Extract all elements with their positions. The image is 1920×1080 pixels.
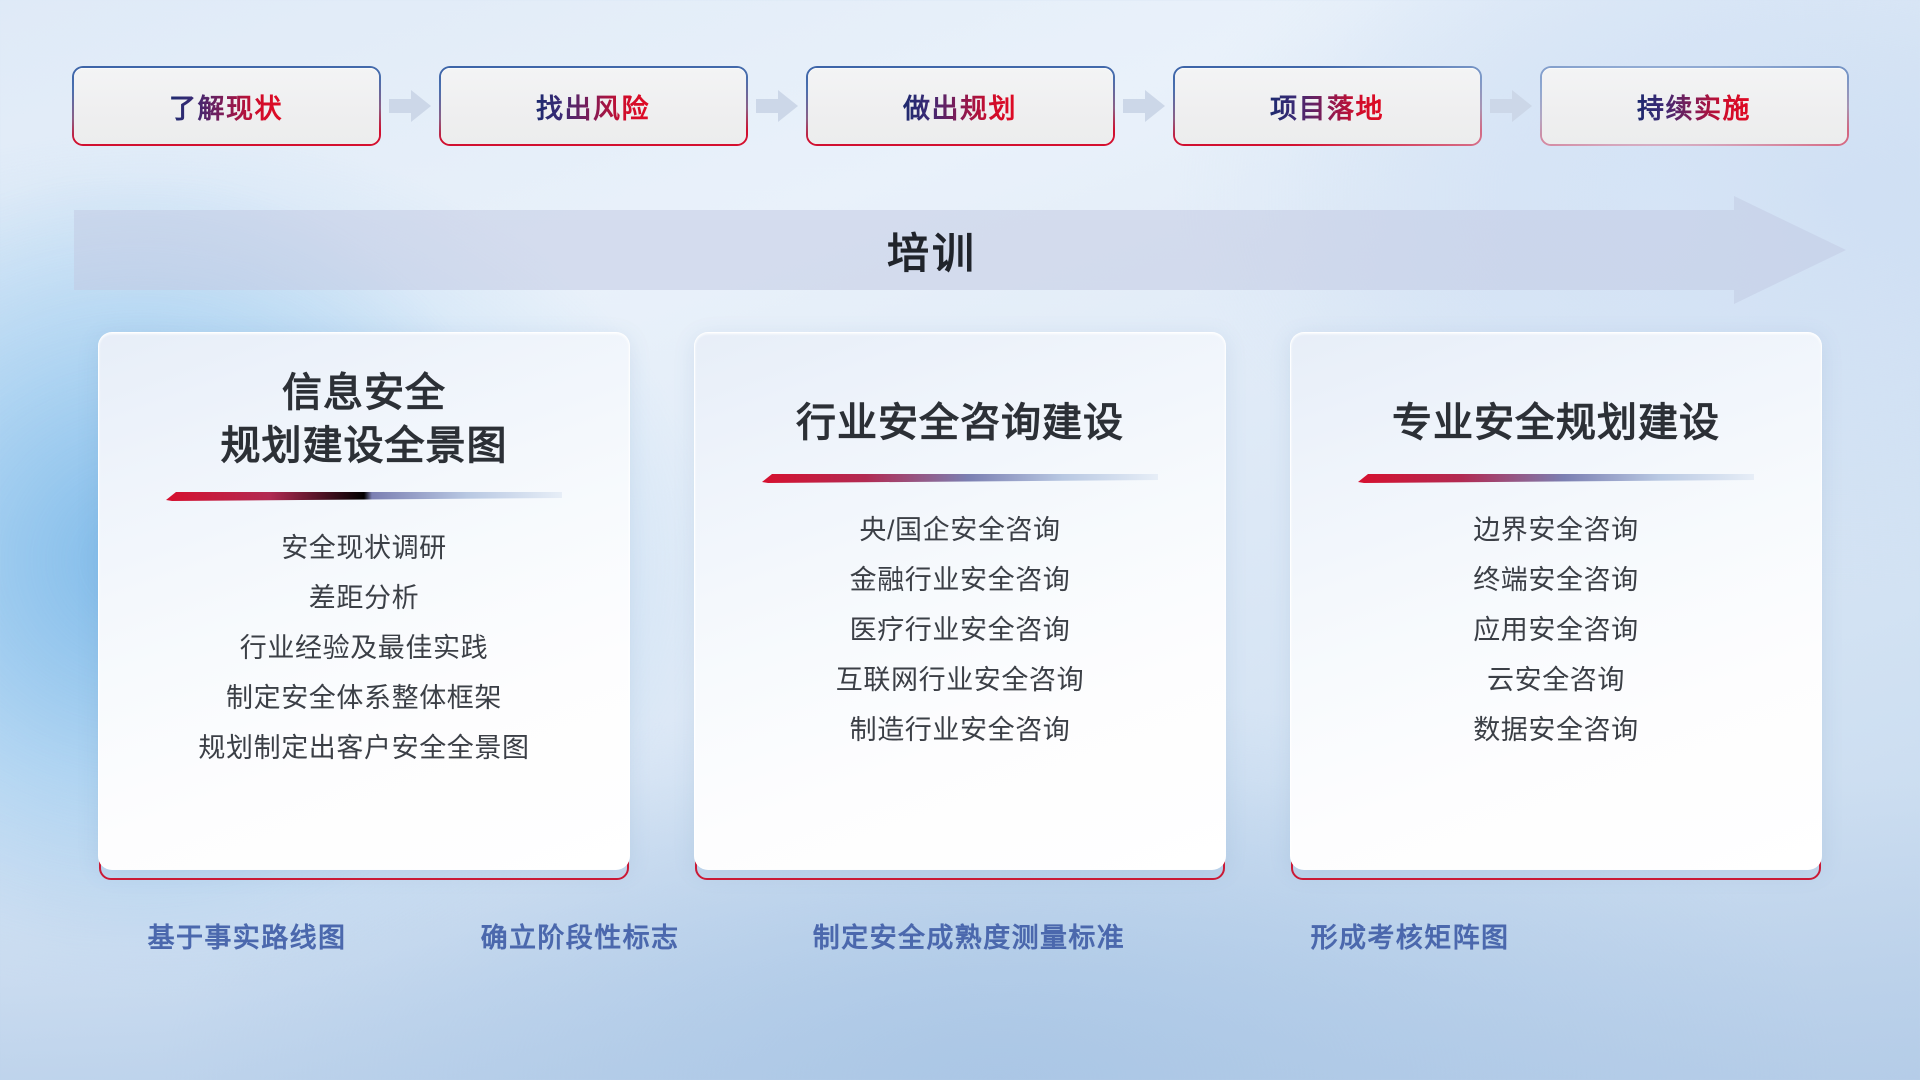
list-item: 央/国企安全咨询	[859, 509, 1060, 551]
caption-row: 基于事实路线图 确立阶段性标志 制定安全成熟度测量标准 形成考核矩阵图	[0, 916, 1920, 962]
card-divider	[166, 491, 562, 501]
card-row: 信息安全 规划建设全景图	[0, 332, 1920, 880]
card-2: 行业安全咨询建设 央/国企安全咨询	[694, 332, 1226, 880]
caption-3: 制定安全成熟度测量标准	[813, 916, 1125, 955]
list-item: 差距分析	[309, 577, 419, 619]
list-item: 边界安全咨询	[1473, 509, 1639, 551]
process-step-label: 找出风险	[536, 87, 650, 126]
step-arrow-icon	[379, 86, 441, 126]
list-item: 金融行业安全咨询	[850, 559, 1071, 601]
banner-title: 培训	[74, 196, 1790, 304]
step-arrow-icon	[1480, 86, 1542, 126]
process-step-5[interactable]: 持续实施	[1542, 68, 1847, 144]
step-arrow-icon	[746, 86, 808, 126]
card-1: 信息安全 规划建设全景图	[98, 332, 630, 880]
list-item: 制造行业安全咨询	[850, 709, 1071, 751]
step-arrow-icon	[1113, 86, 1175, 126]
process-step-4[interactable]: 项目落地	[1175, 68, 1480, 144]
list-item: 行业经验及最佳实践	[240, 627, 488, 669]
list-item: 终端安全咨询	[1473, 559, 1639, 601]
card-item-list: 边界安全咨询 终端安全咨询 应用安全咨询 云安全咨询 数据安全咨询	[1291, 509, 1821, 752]
process-step-row: 了解现状 找出风险 做出规划 项目落地 持续实施	[0, 68, 1920, 144]
list-item: 云安全咨询	[1487, 659, 1625, 701]
card-3: 专业安全规划建设 边界安全咨询	[1290, 332, 1822, 880]
process-step-1[interactable]: 了解现状	[74, 68, 379, 144]
training-banner: 培训	[74, 196, 1846, 304]
card-title: 行业安全咨询建设	[796, 391, 1124, 455]
card-item-list: 央/国企安全咨询 金融行业安全咨询 医疗行业安全咨询 互联网行业安全咨询 制造行…	[695, 509, 1225, 752]
process-step-2[interactable]: 找出风险	[441, 68, 746, 144]
process-step-3[interactable]: 做出规划	[808, 68, 1113, 144]
caption-1: 基于事实路线图	[148, 916, 347, 955]
list-item: 安全现状调研	[281, 527, 447, 569]
process-step-label: 持续实施	[1637, 87, 1751, 126]
list-item: 互联网行业安全咨询	[836, 659, 1084, 701]
list-item: 医疗行业安全咨询	[850, 609, 1071, 651]
caption-2: 确立阶段性标志	[481, 916, 680, 955]
process-step-label: 项目落地	[1270, 87, 1384, 126]
card-item-list: 安全现状调研 差距分析 行业经验及最佳实践 制定安全体系整体框架 规划制定出客户…	[99, 527, 629, 770]
card-title: 信息安全 规划建设全景图	[221, 367, 508, 473]
card-panel[interactable]: 专业安全规划建设 边界安全咨询	[1290, 332, 1822, 870]
card-title: 专业安全规划建设	[1392, 391, 1720, 455]
process-step-label: 了解现状	[169, 87, 283, 126]
caption-4: 形成考核矩阵图	[1311, 916, 1510, 955]
process-step-label: 做出规划	[903, 87, 1017, 126]
card-divider	[1358, 473, 1754, 483]
list-item: 规划制定出客户安全全景图	[198, 727, 529, 769]
card-panel[interactable]: 行业安全咨询建设 央/国企安全咨询	[694, 332, 1226, 870]
list-item: 数据安全咨询	[1473, 709, 1639, 751]
card-divider	[762, 473, 1158, 483]
list-item: 制定安全体系整体框架	[226, 677, 502, 719]
card-panel[interactable]: 信息安全 规划建设全景图	[98, 332, 630, 870]
list-item: 应用安全咨询	[1473, 609, 1639, 651]
